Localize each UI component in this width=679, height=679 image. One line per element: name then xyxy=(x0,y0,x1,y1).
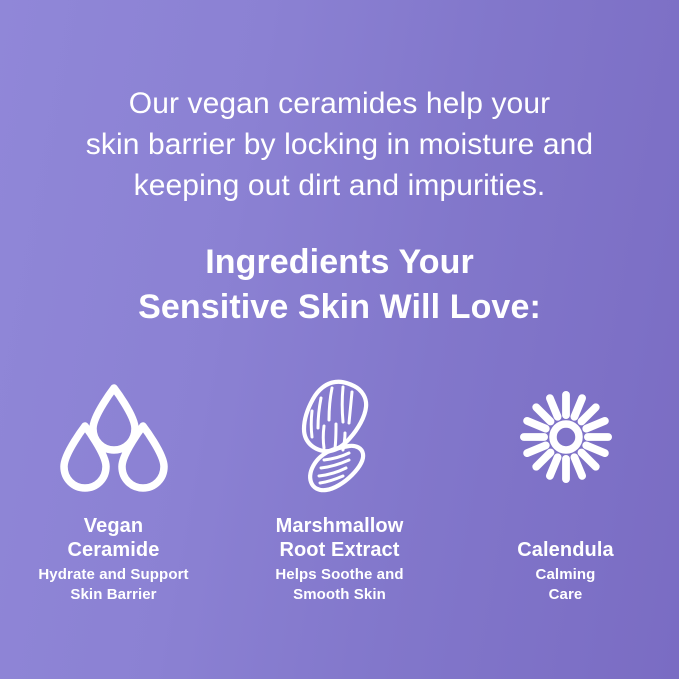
ingredient-caption: Marshmallow Root Extract Helps Soothe an… xyxy=(275,514,403,605)
ingredient-caption: Calendula Calming Care xyxy=(517,514,613,605)
ingredient-title: Marshmallow Root Extract xyxy=(275,514,403,562)
intro-paragraph: Our vegan ceramides help your skin barri… xyxy=(35,83,645,206)
ingredient-subtitle: Helps Soothe and Smooth Skin xyxy=(275,565,403,605)
ingredient-caption: Vegan Ceramide Hydrate and Support Skin … xyxy=(38,514,188,605)
marshmallow-root-icon xyxy=(288,378,392,496)
ingredient-list: Vegan Ceramide Hydrate and Support Skin … xyxy=(0,378,679,605)
ingredient-title: Calendula xyxy=(517,514,613,562)
ingredient-item-vegan-ceramide: Vegan Ceramide Hydrate and Support Skin … xyxy=(1,378,227,605)
ingredient-infographic-panel: Our vegan ceramides help your skin barri… xyxy=(0,0,679,679)
ingredient-subtitle: Calming Care xyxy=(517,565,613,605)
ingredient-item-calendula: Calendula Calming Care xyxy=(453,378,679,605)
ingredient-subtitle: Hydrate and Support Skin Barrier xyxy=(38,565,188,605)
calendula-flower-icon xyxy=(518,378,614,496)
page-title: Ingredients Your Sensitive Skin Will Lov… xyxy=(30,240,650,330)
ingredient-item-marshmallow-root-extract: Marshmallow Root Extract Helps Soothe an… xyxy=(227,378,453,605)
ingredient-title: Vegan Ceramide xyxy=(38,514,188,562)
water-droplets-icon xyxy=(60,378,168,496)
